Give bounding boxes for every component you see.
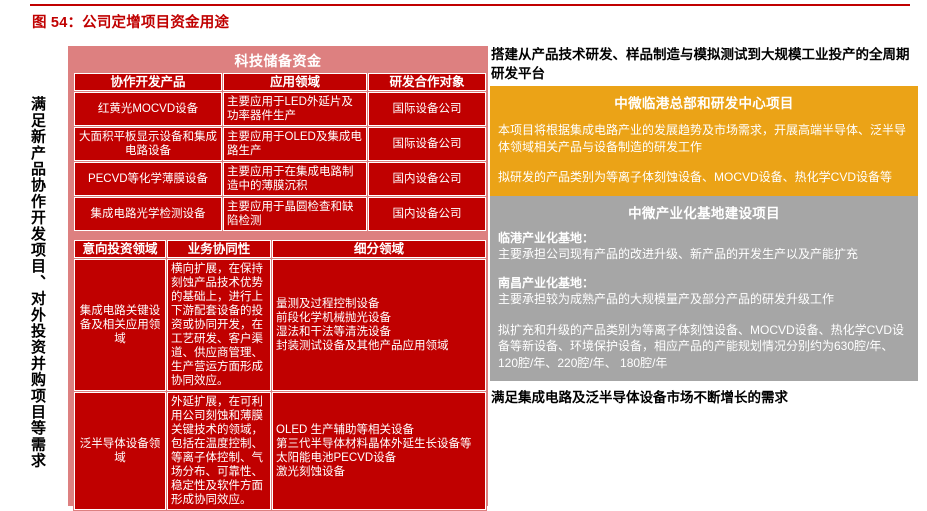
table-row: 红黄光MOCVD设备 主要应用于LED外延片及功率器件生产 国际设备公司 xyxy=(74,92,486,126)
right-panel: 搭建从产品技术研发、样品制造与模拟测试到大规模工业投产的全周期研发平台 中微临港… xyxy=(490,46,918,506)
right-footer: 满足集成电路及泛半导体设备市场不断增长的需求 xyxy=(490,381,918,408)
table2-header-segments: 细分领域 xyxy=(272,240,486,258)
table1-cell-application: 主要应用于LED外延片及功率器件生产 xyxy=(223,92,367,126)
table1-cell-application: 主要应用于在集成电路制造中的薄膜沉积 xyxy=(223,162,367,196)
figure-page: 图 54：公司定增项目资金用途 满足新产品协作开发项目、对外投资并购项目等需求 … xyxy=(0,0,927,510)
table-header-row: 意向投资领域 业务协同性 细分领域 xyxy=(74,240,486,258)
table-tech-reserve-fund: 协作开发产品 应用领域 研发合作对象 红黄光MOCVD设备 主要应用于LED外延… xyxy=(73,72,487,232)
table1-cell-product: 大面积平板显示设备和集成电路设备 xyxy=(74,127,222,161)
panel2-spacer-2 xyxy=(498,308,910,318)
table1-cell-product: 红黄光MOCVD设备 xyxy=(74,92,222,126)
table-row: 集成电路光学检测设备 主要应用于晶圆检查和缺陷检测 国内设备公司 xyxy=(74,197,486,231)
panel1-title: 中微临港总部和研发中心项目 xyxy=(498,92,910,118)
panel-industrial-base: 中微产业化基地建设项目 临港产业化基地： 主要承担公司现有产品的改进升级、新产品… xyxy=(490,196,918,382)
table1-cell-application: 主要应用于晶圆检查和缺陷检测 xyxy=(223,197,367,231)
table1-caption: 科技储备资金 xyxy=(73,50,483,72)
table2-cell-synergy: 横向扩展，在保持刻蚀产品技术优势的基础上，进行上下游配套设备的投资或协同开发，在… xyxy=(167,259,271,391)
table1-header-product: 协作开发产品 xyxy=(74,73,222,91)
panel2-sub2: 南昌产业化基地： 主要承担较为成熟产品的大规模量产及部分产品的研发升级工作 xyxy=(498,273,910,308)
panel2-sub2-label: 南昌产业化基地： xyxy=(498,276,594,290)
table1-cell-application: 主要应用于OLED及集成电路生产 xyxy=(223,127,367,161)
panel2-spacer-1 xyxy=(498,263,910,273)
table2-header-synergy: 业务协同性 xyxy=(167,240,271,258)
table2-cell-synergy: 外延扩展，在可利用公司刻蚀和薄膜关键技术的领域，包括在温度控制、等离子体控制、气… xyxy=(167,392,271,510)
panel-linggang-hq: 中微临港总部和研发中心项目 本项目将根据集成电路产业的发展趋势及市场需求，开展高… xyxy=(490,86,918,196)
table-investment-areas: 意向投资领域 业务协同性 细分领域 集成电路关键设备及相关应用领域 横向扩展，在… xyxy=(73,239,487,511)
table-row: 大面积平板显示设备和集成电路设备 主要应用于OLED及集成电路生产 国际设备公司 xyxy=(74,127,486,161)
table2-cell-segments: 量测及过程控制设备 前段化学机械抛光设备 湿法和干法等清洗设备 封装测试设备及其… xyxy=(272,259,486,391)
table2-cell-area: 集成电路关键设备及相关应用领域 xyxy=(74,259,166,391)
table1-cell-partner: 国内设备公司 xyxy=(368,162,486,196)
table-row: PECVD等化学薄膜设备 主要应用于在集成电路制造中的薄膜沉积 国内设备公司 xyxy=(74,162,486,196)
table2-cell-segments: OLED 生产辅助等相关设备 第三代半导体材料晶体外延生长设备等 太阳能电池PE… xyxy=(272,392,486,510)
table1-cell-partner: 国际设备公司 xyxy=(368,127,486,161)
left-tables-panel: 科技储备资金 协作开发产品 应用领域 研发合作对象 红黄光MOCVD设备 主要应… xyxy=(68,46,488,506)
top-rule xyxy=(30,4,910,6)
table1-cell-partner: 国际设备公司 xyxy=(368,92,486,126)
table1-cell-product: PECVD等化学薄膜设备 xyxy=(74,162,222,196)
right-heading: 搭建从产品技术研发、样品制造与模拟测试到大规模工业投产的全周期研发平台 xyxy=(490,46,918,86)
table1-cell-product: 集成电路光学检测设备 xyxy=(74,197,222,231)
table-row: 集成电路关键设备及相关应用领域 横向扩展，在保持刻蚀产品技术优势的基础上，进行上… xyxy=(74,259,486,391)
panel2-sub2-text: 主要承担较为成熟产品的大规模量产及部分产品的研发升级工作 xyxy=(498,292,834,306)
panel2-paragraph-3: 拟扩充和升级的产品类别为等离子体刻蚀设备、MOCVD设备、热化学CVD设备等新设… xyxy=(498,318,910,372)
panel2-sub1: 临港产业化基地： 主要承担公司现有产品的改进升级、新产品的开发生产以及产能扩充 xyxy=(498,228,910,263)
figure-title: 图 54：公司定增项目资金用途 xyxy=(32,11,229,32)
panel1-paragraph-1: 本项目将根据集成电路产业的发展趋势及市场需求，开展高端半导体、泛半导体领域相关产… xyxy=(498,118,910,155)
table1-cell-partner: 国内设备公司 xyxy=(368,197,486,231)
table1-header-partner: 研发合作对象 xyxy=(368,73,486,91)
panel1-paragraph-2: 拟研发的产品类别为等离子体刻蚀设备、MOCVD设备、热化学CVD设备等 xyxy=(498,165,910,186)
table-header-row: 协作开发产品 应用领域 研发合作对象 xyxy=(74,73,486,91)
vertical-sidebar-label: 满足新产品协作开发项目、对外投资并购项目等需求 xyxy=(24,96,50,496)
table-row: 泛半导体设备领域 外延扩展，在可利用公司刻蚀和薄膜关键技术的领域，包括在温度控制… xyxy=(74,392,486,510)
table1-header-application: 应用领域 xyxy=(223,73,367,91)
panel1-spacer xyxy=(498,155,910,165)
panel2-title: 中微产业化基地建设项目 xyxy=(498,202,910,228)
table2-header-area: 意向投资领域 xyxy=(74,240,166,258)
table-gap xyxy=(73,232,483,239)
panel2-sub1-label: 临港产业化基地： xyxy=(498,231,594,245)
panel2-sub1-text: 主要承担公司现有产品的改进升级、新产品的开发生产以及产能扩充 xyxy=(498,247,858,261)
table2-cell-area: 泛半导体设备领域 xyxy=(74,392,166,510)
